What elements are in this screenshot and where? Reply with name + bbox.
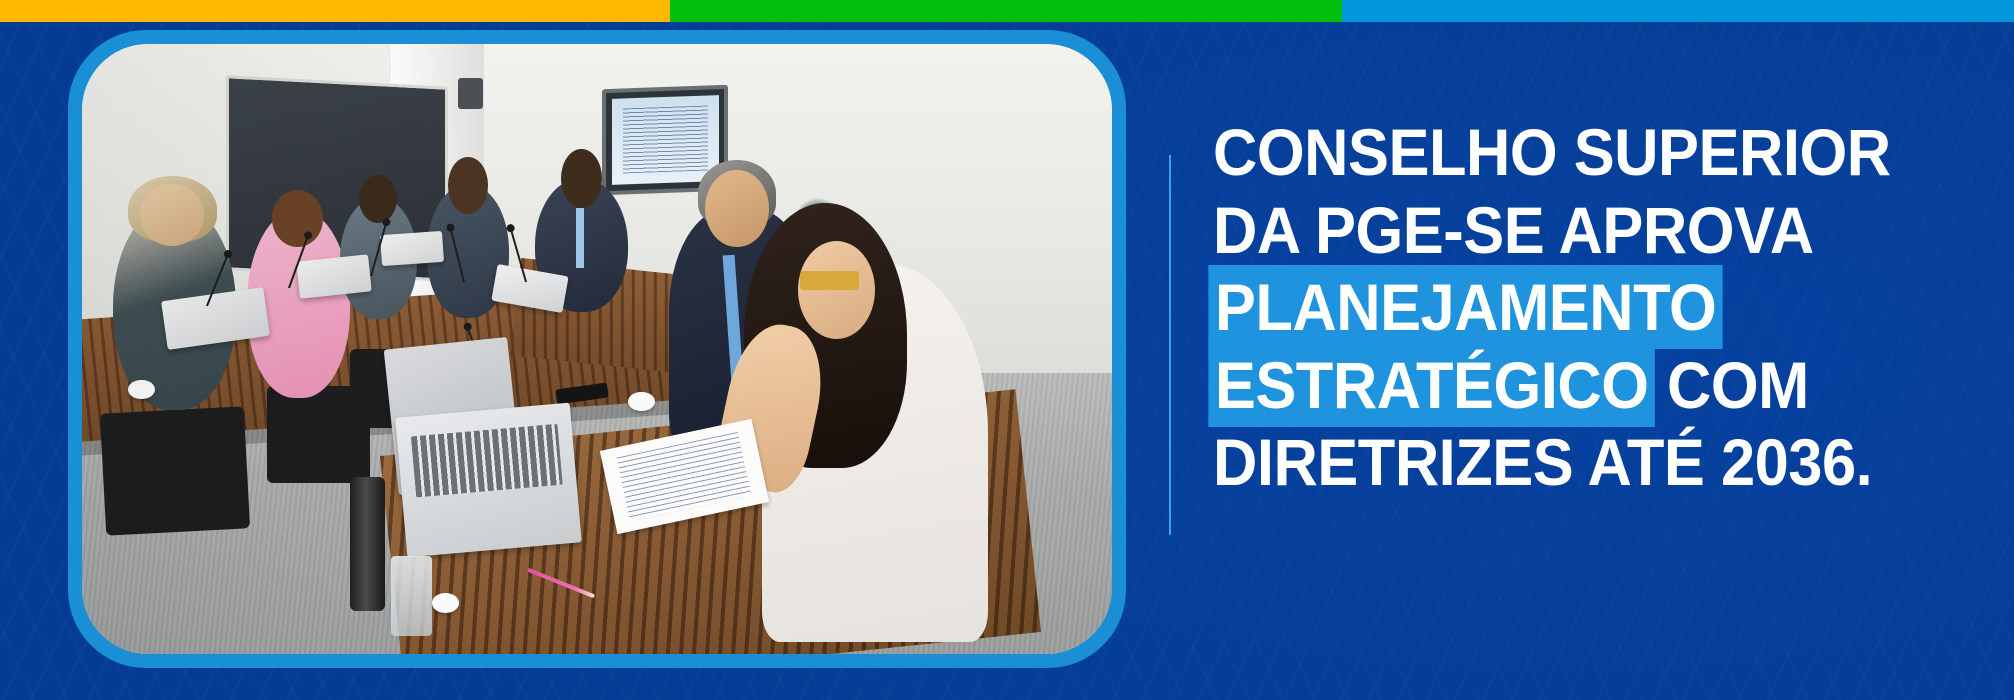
topbar-blue-segment bbox=[1342, 0, 2014, 22]
photo-frame bbox=[68, 30, 1126, 668]
headline-line-3: PLANEJAMENTO bbox=[1213, 269, 1920, 347]
topbar-yellow-segment bbox=[0, 0, 670, 22]
headline-line-5: DIRETRIZES ATÉ 2036. bbox=[1213, 424, 1920, 502]
headline-line-4-tail: COM bbox=[1667, 348, 1809, 422]
meeting-photo bbox=[82, 44, 1112, 654]
headline-highlight-planejamento: PLANEJAMENTO bbox=[1213, 270, 1718, 344]
topbar-green-segment bbox=[670, 0, 1342, 22]
headline-line-2: DA PGE-SE APROVA bbox=[1213, 192, 1920, 270]
photo-shading bbox=[82, 44, 1112, 654]
headline-line-4: ESTRATÉGICO COM bbox=[1213, 347, 1920, 425]
headline-line-1: CONSELHO SUPERIOR bbox=[1213, 114, 1920, 192]
headline-highlight-estrategico: ESTRATÉGICO bbox=[1213, 348, 1650, 422]
headline-divider bbox=[1169, 155, 1171, 535]
headline: CONSELHO SUPERIOR DA PGE-SE APROVA PLANE… bbox=[1213, 114, 1920, 502]
news-banner: CONSELHO SUPERIOR DA PGE-SE APROVA PLANE… bbox=[0, 0, 2014, 700]
top-color-strip bbox=[0, 0, 2014, 22]
